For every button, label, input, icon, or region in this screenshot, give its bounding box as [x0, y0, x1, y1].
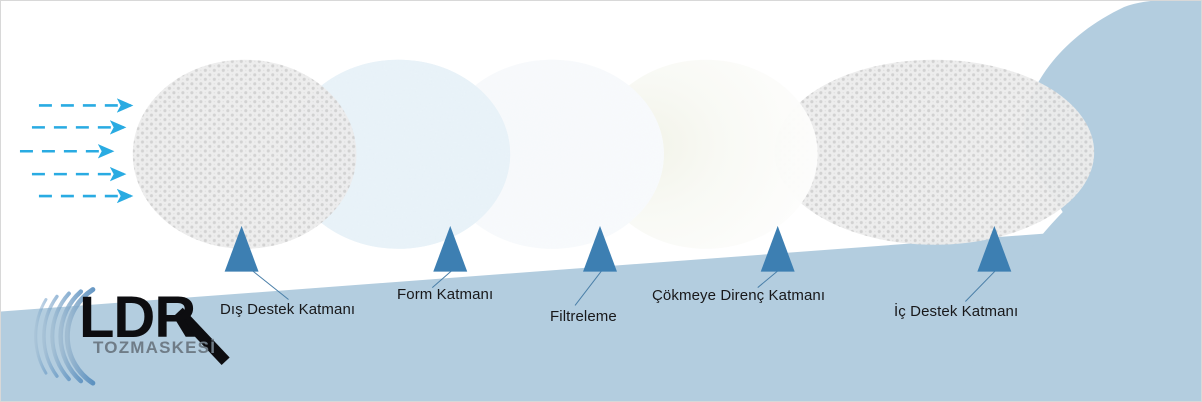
label-outer-support: Dış Destek Katmanı	[220, 302, 355, 317]
layer-ellipses	[133, 60, 1094, 249]
diagram-canvas: LDR TOZMASKESİ Dış Destek Katmanı Form K…	[0, 0, 1202, 402]
logo-subtitle: TOZMASKESİ	[93, 339, 216, 356]
label-form: Form Katmanı	[397, 287, 493, 302]
airflow-arrows	[20, 105, 131, 196]
label-filtration: Filtreleme	[550, 309, 617, 324]
label-inner-support: İç Destek Katmanı	[894, 304, 1018, 319]
label-collapse-resistance: Çökmeye Direnç Katmanı	[652, 288, 825, 303]
layer-outer-support-shape	[133, 60, 357, 249]
layer-inner-support-shape	[775, 60, 1094, 245]
